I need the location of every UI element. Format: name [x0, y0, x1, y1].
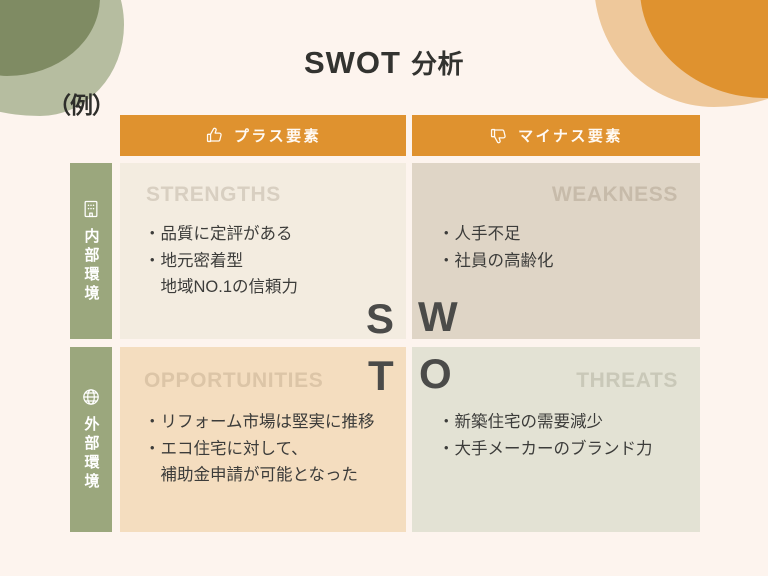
list-item: 地域NO.1の信頼力: [144, 274, 298, 301]
example-label: （例）: [48, 86, 114, 120]
quadrant-opportunities-title: OPPORTUNITIES: [144, 369, 323, 393]
page-title: SWOT分析: [0, 44, 768, 81]
building-icon: [81, 199, 101, 219]
list-item: ・人手不足: [438, 221, 554, 248]
column-header-plus: プラス要素: [120, 115, 406, 156]
thumbs-down-icon: [489, 126, 508, 145]
quadrant-strengths: STRENGTHS ・品質に定評がある ・地元密着型 地域NO.1の信頼力: [120, 163, 406, 339]
page-title-sub: 分析: [411, 49, 464, 79]
globe-icon: [81, 387, 101, 407]
center-letter-t: T: [368, 355, 394, 397]
row-header-internal-label: 内部環境: [84, 228, 99, 304]
center-letter-o: O: [419, 353, 452, 395]
list-item: ・大手メーカーのブランド力: [438, 436, 653, 463]
column-header-minus: マイナス要素: [412, 115, 700, 156]
list-item: ・リフォーム市場は堅実に推移: [144, 409, 375, 436]
row-header-external-label: 外部環境: [84, 416, 99, 492]
row-header-internal: 内部環境: [70, 163, 112, 339]
quadrant-weakness-title: WEAKNESS: [552, 183, 678, 207]
column-header-minus-label: マイナス要素: [518, 125, 623, 146]
row-header-external: 外部環境: [70, 347, 112, 532]
quadrant-weakness-list: ・人手不足 ・社員の高齢化: [438, 221, 554, 274]
quadrant-strengths-list: ・品質に定評がある ・地元密着型 地域NO.1の信頼力: [144, 221, 298, 301]
quadrant-strengths-title: STRENGTHS: [146, 183, 281, 207]
swot-analysis-slide: SWOT分析 （例） プラス要素 マイナス要素: [0, 0, 768, 576]
quadrant-opportunities-list: ・リフォーム市場は堅実に推移 ・エコ住宅に対して、 補助金申請が可能となった: [144, 409, 375, 489]
list-item: ・新築住宅の需要減少: [438, 409, 653, 436]
quadrant-opportunities: OPPORTUNITIES ・リフォーム市場は堅実に推移 ・エコ住宅に対して、 …: [120, 347, 406, 532]
thumbs-up-icon: [205, 126, 224, 145]
list-item: 補助金申請が可能となった: [144, 462, 375, 489]
quadrant-threats-list: ・新築住宅の需要減少 ・大手メーカーのブランド力: [438, 409, 653, 462]
quadrant-threats-title: THREATS: [576, 369, 678, 393]
center-letter-s: S: [366, 298, 394, 340]
center-letter-w: W: [418, 296, 458, 338]
list-item: ・品質に定評がある: [144, 221, 298, 248]
column-header-plus-label: プラス要素: [234, 125, 321, 146]
page-title-main: SWOT: [304, 45, 401, 80]
list-item: ・社員の高齢化: [438, 248, 554, 275]
list-item: ・地元密着型: [144, 248, 298, 275]
quadrant-threats: THREATS ・新築住宅の需要減少 ・大手メーカーのブランド力: [412, 347, 700, 532]
list-item: ・エコ住宅に対して、: [144, 436, 375, 463]
